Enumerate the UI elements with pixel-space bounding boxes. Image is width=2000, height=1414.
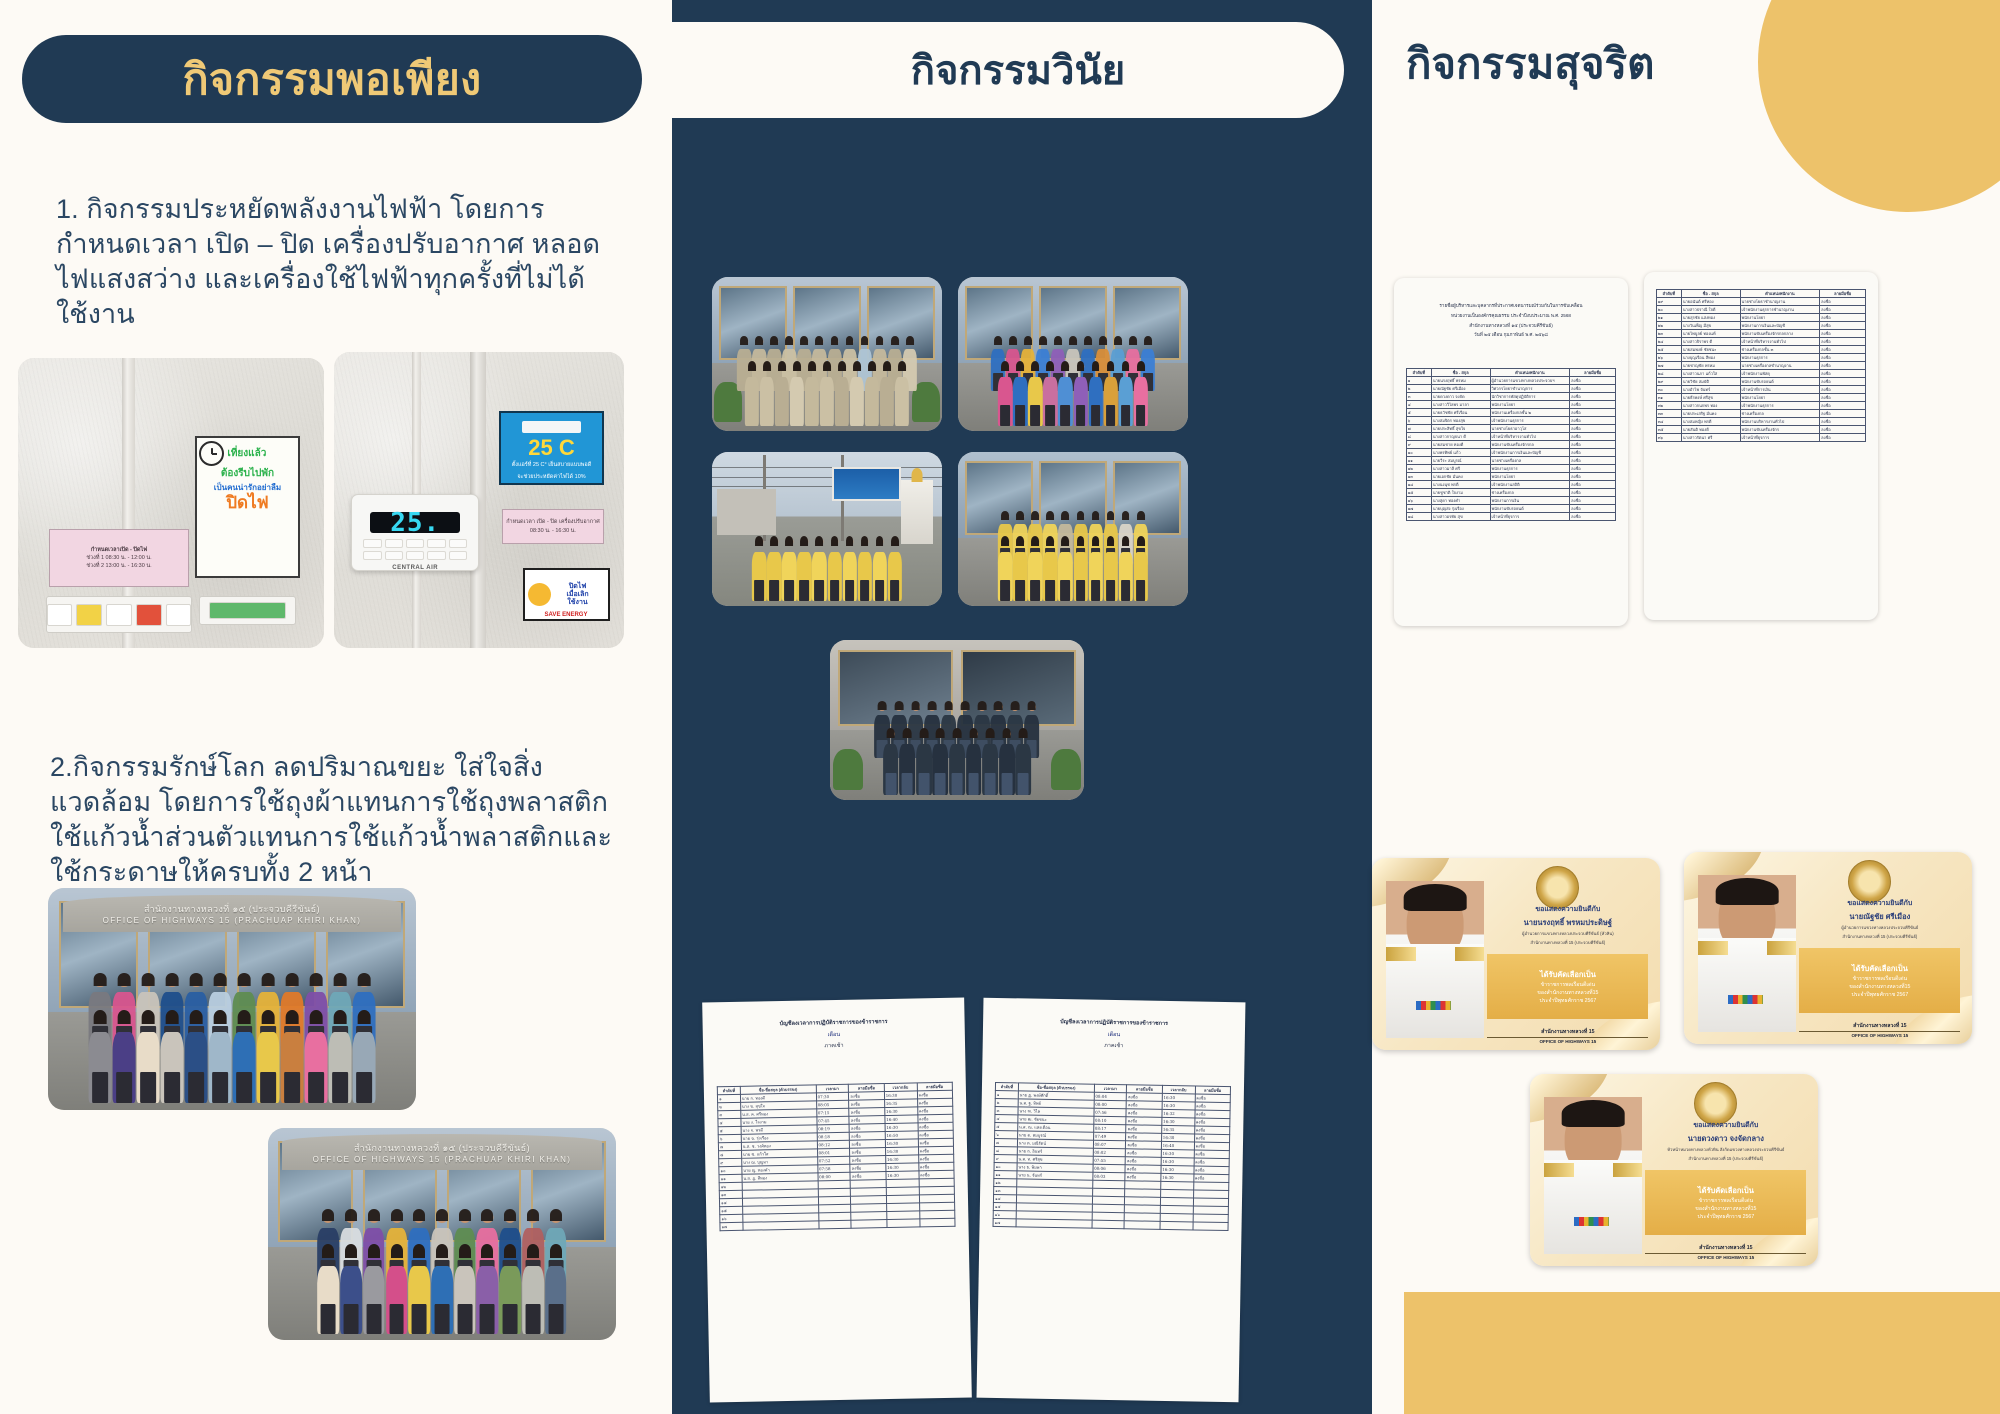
table-row: ๓๐นางอำไพ จันทร์เจ้าหน้าที่การเงินลงชื่อ bbox=[1656, 386, 1866, 394]
award-footer-thai-1: สำนักงานทางหลวงที่ 15 bbox=[1487, 1028, 1648, 1038]
sign-ac-25c: 25 C ตั้งแอร์ที่ 25 C° เย็นสบายแบบพอดี จ… bbox=[499, 411, 603, 485]
award-selected-3b: ของสำนักงานทางหลวงที่15 bbox=[1695, 1205, 1756, 1213]
table-row: ๒๘นางสาวนภา แก้วใสเจ้าพนักงานพัสดุลงชื่อ bbox=[1656, 370, 1866, 378]
sign-ac-note-l2: จะช่วยประหยัดค่าไฟได้ 10% bbox=[514, 471, 588, 483]
table-row: ๓นายดวงดาว จงจัดนักวิชาการพัสดุปฏิบัติกา… bbox=[1406, 393, 1616, 401]
yellow-row-front bbox=[963, 514, 1184, 602]
award-position-1b: สำนักงานทางหลวงที่ 15 (ประจวบคีรีขันธ์) bbox=[1487, 940, 1648, 947]
government-seal-icon-2 bbox=[1848, 860, 1891, 903]
ac-unit-pictogram bbox=[522, 421, 580, 432]
award-gold-band-3: ได้รับคัดเลือกเป็น ข้าราชการพลเรือนดีเด่… bbox=[1645, 1170, 1806, 1235]
award-text-block-2: ขอแสดงความยินดีกับ นายณัฐชัย ศรีเมือง ผู… bbox=[1799, 898, 1960, 940]
photo-uniform-navy-polo-group bbox=[830, 640, 1084, 800]
award-footer-english-2: OFFICE OF HIGHWAYS 15 bbox=[1799, 1033, 1960, 1038]
navy-polo-row-front bbox=[835, 704, 1079, 795]
light-switch-plate-colored bbox=[46, 596, 193, 634]
government-seal-icon-3 bbox=[1694, 1082, 1737, 1125]
award-selected-3a: ข้าราชการพลเรือนดีเด่น bbox=[1699, 1197, 1753, 1205]
award-card-3: ขอแสดงความยินดีกับ นายดวงดาว จงจัดกลาง ห… bbox=[1530, 1074, 1818, 1266]
table-row: ๑๕นายชูชาติ ใจงามช่างเครื่องกลลงชื่อ bbox=[1406, 489, 1616, 497]
sign-ac-sched-l2: 08:30 น. - 16:30 น. bbox=[530, 527, 576, 535]
sign-noon-l1: เที่ยงแล้ว bbox=[227, 446, 266, 461]
ac-brand-label: CENTRAL AIR bbox=[392, 565, 438, 571]
table-row: ๒๒นางวันเพ็ญ มีสุขพนักงานการเงินและบัญชี… bbox=[1656, 322, 1866, 330]
award-position-2a: ผู้อำนวยการแขวงทางหลวงประจวบคีรีขันธ์ bbox=[1799, 925, 1960, 932]
table-row: ๒๓นายไพบูลย์ ทองแท้พนักงานขับเครื่องจักร… bbox=[1656, 330, 1866, 338]
photo-uniform-yellow-group bbox=[958, 452, 1188, 606]
office-sign-thai: สำนักงานทางหลวงที่ ๑๕ (ประจวบคีรีขันธ์) bbox=[144, 902, 320, 916]
doc-attendance-register-left: บัญชีลงเวลาการปฏิบัติราชการของข้าราชการ … bbox=[702, 998, 972, 1403]
table-row: ๑๒นางสาวมาลี ศรีพนักงานธุรการลงชื่อ bbox=[1406, 465, 1616, 473]
sign-schedule-line2: ช่วงที่ 2 13:00 น. - 16:30 น. bbox=[86, 562, 151, 570]
paragraph-sufficiency-1: 1. กิจกรรมประหยัดพลังงานไฟฟ้า โดยการกำหน… bbox=[56, 192, 616, 332]
photo-uniform-street-group bbox=[712, 452, 942, 606]
table-row: ๓๓นายประเสริฐ มั่นคงช่างเครื่องกลลงชื่อ bbox=[1656, 410, 1866, 418]
award-footer-english-3: OFFICE OF HIGHWAYS 15 bbox=[1645, 1255, 1806, 1260]
award-selected-2a: ข้าราชการพลเรือนดีเด่น bbox=[1853, 975, 1907, 983]
table-row: ๖นางสมจิตร ทองสุขเจ้าพนักงานธุรการลงชื่อ bbox=[1406, 417, 1616, 425]
award-congrats-1: ขอแสดงความยินดีกับ bbox=[1487, 904, 1648, 915]
award-card-1: ขอแสดงความยินดีกับ นายนรงฤทธิ์ พรหมประดิ… bbox=[1372, 858, 1660, 1050]
photo-light-switch-wall: กำหนดเวลาเปิด - ปิดไฟ ช่วงที่ 1 08:30 น.… bbox=[18, 358, 324, 648]
office-sign-highways-15: สำนักงานทางหลวงที่ ๑๕ (ประจวบคีรีขันธ์) … bbox=[63, 895, 402, 933]
ac-button-row[interactable] bbox=[361, 539, 469, 560]
blue-row-front bbox=[963, 339, 1184, 427]
award-selected-1c: ประจำปีพุทธศักราช 2567 bbox=[1539, 997, 1596, 1005]
photo-uniform-blue-group bbox=[958, 277, 1188, 431]
award-selected-1b: ของสำนักงานทางหลวงที่15 bbox=[1537, 989, 1598, 997]
table-row: ๓๑นายธีรพงษ์ ศรีสุขพนักงานโยธาลงชื่อ bbox=[1656, 394, 1866, 402]
table-row: ๕นายธวัชชัย ศรีเรือนพนักงานเครื่องกลชั้น… bbox=[1406, 409, 1616, 417]
office-sign-thai-2: สำนักงานทางหลวงที่ ๑๕ (ประจวบคีรีขันธ์) bbox=[354, 1141, 530, 1155]
award-footer-2: สำนักงานทางหลวงที่ 15 OFFICE OF HIGHWAYS… bbox=[1799, 1022, 1960, 1038]
people-row-front-2 bbox=[275, 1213, 609, 1334]
table-row: ๗นายประสิทธิ์ สุขใจนายช่างโยธาอาวุโสลงชื… bbox=[1406, 425, 1616, 433]
doc-table-left: ลำดับที่ ชื่อ-ชื่อสกุล (ตัวบรรจง) เวลามา… bbox=[717, 1082, 956, 1232]
table-row: ๓๕นายสันติ ทองดีพนักงานขับเครื่องจักรลงช… bbox=[1656, 426, 1866, 434]
table-row: ๒นายณัฐชัย ศรีเมืองวิศวกรโยธาชำนาญการลงช… bbox=[1406, 385, 1616, 393]
paragraph-sufficiency-2: 2.กิจกรรมรักษ์โลก ลดปริมาณขยะ ใส่ใจสิ่งแ… bbox=[50, 750, 620, 890]
award-selected-2c: ประจำปีพุทธศักราช 2567 bbox=[1851, 991, 1908, 999]
portrait-photo-2 bbox=[1698, 875, 1796, 1032]
table-row: ๘นางสาวกาญจนา ดีเจ้าหน้าที่บริหารงานทั่ว… bbox=[1406, 433, 1616, 441]
doc-declaration-signatures-1: รายชื่อผู้บริหารและบุคลากรที่ประกาศเจตนา… bbox=[1394, 278, 1628, 626]
table-row: ๒๑นายสุรชัย แสงทองพนักงานโยธาลงชื่อ bbox=[1656, 314, 1866, 322]
award-person-2: นายณัฐชัย ศรีเมือง bbox=[1799, 911, 1960, 923]
sign-schedule-line1: ช่วงที่ 1 08:30 น. - 12:00 น. bbox=[86, 554, 151, 562]
table-row: ๑๘นางสาวอรทัย สุขเจ้าหน้าที่ธุรการลงชื่อ bbox=[1406, 513, 1616, 521]
award-footer-english-1: OFFICE OF HIGHWAYS 15 bbox=[1487, 1039, 1648, 1044]
column-sufficiency: กิจกรรมพอเพียง 1. กิจกรรมประหยัดพลังงานไ… bbox=[0, 0, 672, 1414]
column-discipline: กิจกรรมวินัย 1. กิจกรรมแต่งเครื่องแต่งกา… bbox=[672, 0, 1372, 1414]
ac-display: 25. bbox=[370, 512, 460, 533]
header-pill-sufficiency: กิจกรรมพอเพียง bbox=[22, 35, 642, 123]
clock-icon bbox=[199, 441, 224, 466]
lightbulb-icon bbox=[528, 583, 551, 606]
award-selected-2b: ของสำนักงานทางหลวงที่15 bbox=[1849, 983, 1910, 991]
header-pill-discipline: กิจกรรมวินัย bbox=[672, 22, 1344, 118]
photo-staff-cloth-bags-2: สำนักงานทางหลวงที่ ๑๕ (ประจวบคีรีขันธ์) … bbox=[268, 1128, 616, 1340]
light-switch-plate-green bbox=[199, 596, 297, 625]
sign-ac-sched-l1: กำหนดเวลา เปิด - ปิด เครื่องปรับอากาศ bbox=[506, 518, 600, 526]
doc-attendance-register-right: บัญชีลงเวลาการปฏิบัติราชการของข้าราชการ … bbox=[977, 998, 1246, 1403]
award-person-1: นายนรงฤทธิ์ พรหมประดิษฐ์ bbox=[1487, 917, 1648, 929]
poster-canvas: กิจกรรมพอเพียง 1. กิจกรรมประหยัดพลังงานไ… bbox=[0, 0, 2000, 1414]
award-selected-title-3: ได้รับคัดเลือกเป็น bbox=[1698, 1185, 1754, 1197]
award-footer-thai-2: สำนักงานทางหลวงที่ 15 bbox=[1799, 1022, 1960, 1032]
table-row: ๓๔นางสมหญิง พรดีพนักงานบริหารงานทั่วไปลง… bbox=[1656, 418, 1866, 426]
table-row: ๒๔นางสาวจิราพร ดีเจ้าหน้าที่บริหารงานทั่… bbox=[1656, 338, 1866, 346]
table-row: ๑๙นายอนันต์ ศรีทองนายช่างโยธาชำนาญงานลงช… bbox=[1656, 298, 1866, 306]
header-title-integrity: กิจกรรมสุจริต bbox=[1406, 31, 1654, 97]
table-row: ๑๐นางพรทิพย์ แก้วเจ้าพนักงานการเงินและบั… bbox=[1406, 449, 1616, 457]
award-gold-band-1: ได้รับคัดเลือกเป็น ข้าราชการพลเรือนดีเด่… bbox=[1487, 954, 1648, 1019]
award-position-3b: สำนักงานทางหลวงที่ 15 (ประจวบคีรีขันธ์) bbox=[1645, 1156, 1806, 1163]
award-selected-title-1: ได้รับคัดเลือกเป็น bbox=[1540, 969, 1596, 981]
photo-staff-cloth-bags-1: สำนักงานทางหลวงที่ ๑๕ (ประจวบคีรีขันธ์) … bbox=[48, 888, 416, 1110]
table-row: ๓๖นางสาวรัตนา ศรีเจ้าหน้าที่ธุรการลงชื่อ bbox=[1656, 434, 1866, 442]
table-row: ๑๖นางสุดา ทองคำพนักงานการเงินลงชื่อ bbox=[1406, 497, 1616, 505]
portrait-photo-1 bbox=[1386, 881, 1484, 1038]
award-footer-thai-3: สำนักงานทางหลวงที่ 15 bbox=[1645, 1244, 1806, 1254]
award-congrats-3: ขอแสดงความยินดีกับ bbox=[1645, 1120, 1806, 1131]
table-row: ๒๙นายวิชัย สมบัติพนักงานขับรถยนต์ลงชื่อ bbox=[1656, 378, 1866, 386]
award-position-1a: ผู้อำนวยการแขวงทางหลวงประจวบคีรีขันธ์ (ห… bbox=[1487, 931, 1648, 938]
table-row: ๔นางสาววิไลพร มาลาพนักงานโยธาลงชื่อ bbox=[1406, 401, 1616, 409]
table-row: ๒๐นางสาวปราณี ใจดีเจ้าพนักงานธุรการชำนาญ… bbox=[1656, 306, 1866, 314]
sign-bulb-text: ปิดไฟ เมื่อเลิก ใช้งาน bbox=[551, 583, 605, 607]
column-integrity: กิจกรรมสุจริต 1. การประกาศเจตนารมณ์ร่วมก… bbox=[1372, 0, 2000, 1414]
sign-save-energy-label: SAVE ENERGY bbox=[525, 612, 608, 618]
table-row: ๒๖นางบุญเรือน สีทองพนักงานธุรการลงชื่อ bbox=[1656, 354, 1866, 362]
table-row: ๑๗นายบุญส่ง รุ่งเรืองพนักงานขับรถยนต์ลงช… bbox=[1406, 505, 1616, 513]
gold-bottom-band bbox=[1404, 1292, 2000, 1414]
award-selected-3c: ประจำปีพุทธศักราช 2567 bbox=[1697, 1213, 1754, 1221]
office-sign-english: OFFICE OF HIGHWAYS 15 (PRACHUAP KHIRI KH… bbox=[103, 916, 362, 925]
khaki-row-front bbox=[717, 339, 938, 427]
sign-turn-off-lights-noon: เที่ยงแล้ว ต้องรีบไปพัก เป็นคนน่ารักอย่า… bbox=[195, 436, 299, 578]
doc-decl-table-1: ลำดับที่ ชื่อ - สกุล ตำแหน่งพนักงาน ลายม… bbox=[1406, 368, 1617, 521]
header-title-discipline: กิจกรรมวินัย bbox=[911, 38, 1125, 102]
award-selected-1a: ข้าราชการพลเรือนดีเด่น bbox=[1541, 981, 1595, 989]
sign-noon-l4: ปิดไฟ bbox=[226, 494, 268, 511]
award-position-2b: สำนักงานทางหลวงที่ 15 (ประจวบคีรีขันธ์) bbox=[1799, 934, 1960, 941]
photo-uniform-khaki-group bbox=[712, 277, 942, 431]
table-row: ๑๔นางนงนุช พรดีเจ้าพนักงานสถิติลงชื่อ bbox=[1406, 481, 1616, 489]
office-sign-highways-15-2: สำนักงานทางหลวงที่ ๑๕ (ประจวบคีรีขันธ์) … bbox=[282, 1134, 602, 1170]
sign-light-schedule: กำหนดเวลาเปิด - ปิดไฟ ช่วงที่ 1 08:30 น.… bbox=[49, 529, 190, 587]
award-footer-1: สำนักงานทางหลวงที่ 15 OFFICE OF HIGHWAYS… bbox=[1487, 1028, 1648, 1044]
header-title-sufficiency: กิจกรรมพอเพียง bbox=[183, 45, 482, 113]
street-row-front bbox=[717, 514, 938, 602]
sign-ac-note-l1: ตั้งแอร์ที่ 25 C° เย็นสบายแบบพอดี bbox=[509, 459, 595, 471]
ac-wall-controller[interactable]: 25. CENTRAL AIR bbox=[351, 494, 479, 571]
award-selected-title-2: ได้รับคัดเลือกเป็น bbox=[1852, 963, 1908, 975]
sign-ac-temp-value: 25 C bbox=[528, 437, 574, 459]
table-row: ๙นายสมชาย ทองดีพนักงานขับเครื่องจักรกลลง… bbox=[1406, 441, 1616, 449]
doc-title-left: บัญชีลงเวลาการปฏิบัติราชการของข้าราชการ … bbox=[702, 998, 965, 1056]
table-row: ๑๑นายวีระ สมบูรณ์นายช่างเครื่องกลลงชื่อ bbox=[1406, 457, 1616, 465]
award-card-2: ขอแสดงความยินดีกับ นายณัฐชัย ศรีเมือง ผู… bbox=[1684, 852, 1972, 1044]
government-seal-icon bbox=[1536, 866, 1579, 909]
header-integrity: กิจกรรมสุจริต bbox=[1406, 28, 1926, 100]
portrait-photo-3 bbox=[1544, 1097, 1642, 1254]
sign-ac-schedule: กำหนดเวลา เปิด - ปิด เครื่องปรับอากาศ 08… bbox=[502, 509, 604, 545]
award-footer-3: สำนักงานทางหลวงที่ 15 OFFICE OF HIGHWAYS… bbox=[1645, 1244, 1806, 1260]
doc-declaration-signatures-2: ลำดับที่ ชื่อ - สกุล ตำแหน่งพนักงาน ลายม… bbox=[1644, 272, 1878, 620]
people-row-front bbox=[55, 977, 408, 1104]
office-sign-english-2: OFFICE OF HIGHWAYS 15 (PRACHUAP KHIRI KH… bbox=[313, 1155, 572, 1164]
award-gold-band-2: ได้รับคัดเลือกเป็น ข้าราชการพลเรือนดีเด่… bbox=[1799, 948, 1960, 1013]
table-row: ๓๒นางสาวกนกพร ทองเจ้าพนักงานธุรการลงชื่อ bbox=[1656, 402, 1866, 410]
table-row: ๑นายนรงฤทธิ์ พรหมผู้อำนวยการแขวงทางหลวงป… bbox=[1406, 377, 1616, 385]
doc-decl-title: รายชื่อผู้บริหารและบุคลากรที่ประกาศเจตนา… bbox=[1394, 278, 1628, 340]
award-congrats-2: ขอแสดงความยินดีกับ bbox=[1799, 898, 1960, 909]
doc-decl-table-2: ลำดับที่ ชื่อ - สกุล ตำแหน่งพนักงาน ลายม… bbox=[1656, 289, 1867, 442]
doc-table-right: ลำดับที่ ชื่อ-ชื่อสกุล (ตัวบรรจง) เวลามา… bbox=[993, 1082, 1231, 1231]
award-text-block-3: ขอแสดงความยินดีกับ นายดวงดาว จงจัดกลาง ห… bbox=[1645, 1120, 1806, 1162]
sign-save-energy-bulb: ปิดไฟ เมื่อเลิก ใช้งาน SAVE ENERGY bbox=[523, 568, 610, 621]
photo-air-conditioner-panel: 25 C ตั้งแอร์ที่ 25 C° เย็นสบายแบบพอดี จ… bbox=[334, 352, 624, 648]
award-text-block-1: ขอแสดงความยินดีกับ นายนรงฤทธิ์ พรหมประดิ… bbox=[1487, 904, 1648, 946]
doc-title-right: บัญชีลงเวลาการปฏิบัติราชการของข้าราชการ … bbox=[983, 998, 1246, 1056]
table-row: ๒๗นายชาญชัย พรหมนายช่างเครื่องกลชำนาญงาน… bbox=[1656, 362, 1866, 370]
sign-schedule-title: กำหนดเวลาเปิด - ปิดไฟ bbox=[91, 546, 147, 554]
table-row: ๒๕นายสมพงษ์ ชัยชนะช่างเครื่องกลชั้น ๓ลงช… bbox=[1656, 346, 1866, 354]
award-position-3a: หัวหน้าหมวดทางหลวงหัวหิน สังกัดแขวงทางหล… bbox=[1645, 1147, 1806, 1154]
table-row: ๑๓นายเอกชัย มั่นคงพนักงานโยธาลงชื่อ bbox=[1406, 473, 1616, 481]
award-person-3: นายดวงดาว จงจัดกลาง bbox=[1645, 1133, 1806, 1145]
sign-noon-l2: ต้องรีบไปพัก bbox=[221, 466, 274, 481]
